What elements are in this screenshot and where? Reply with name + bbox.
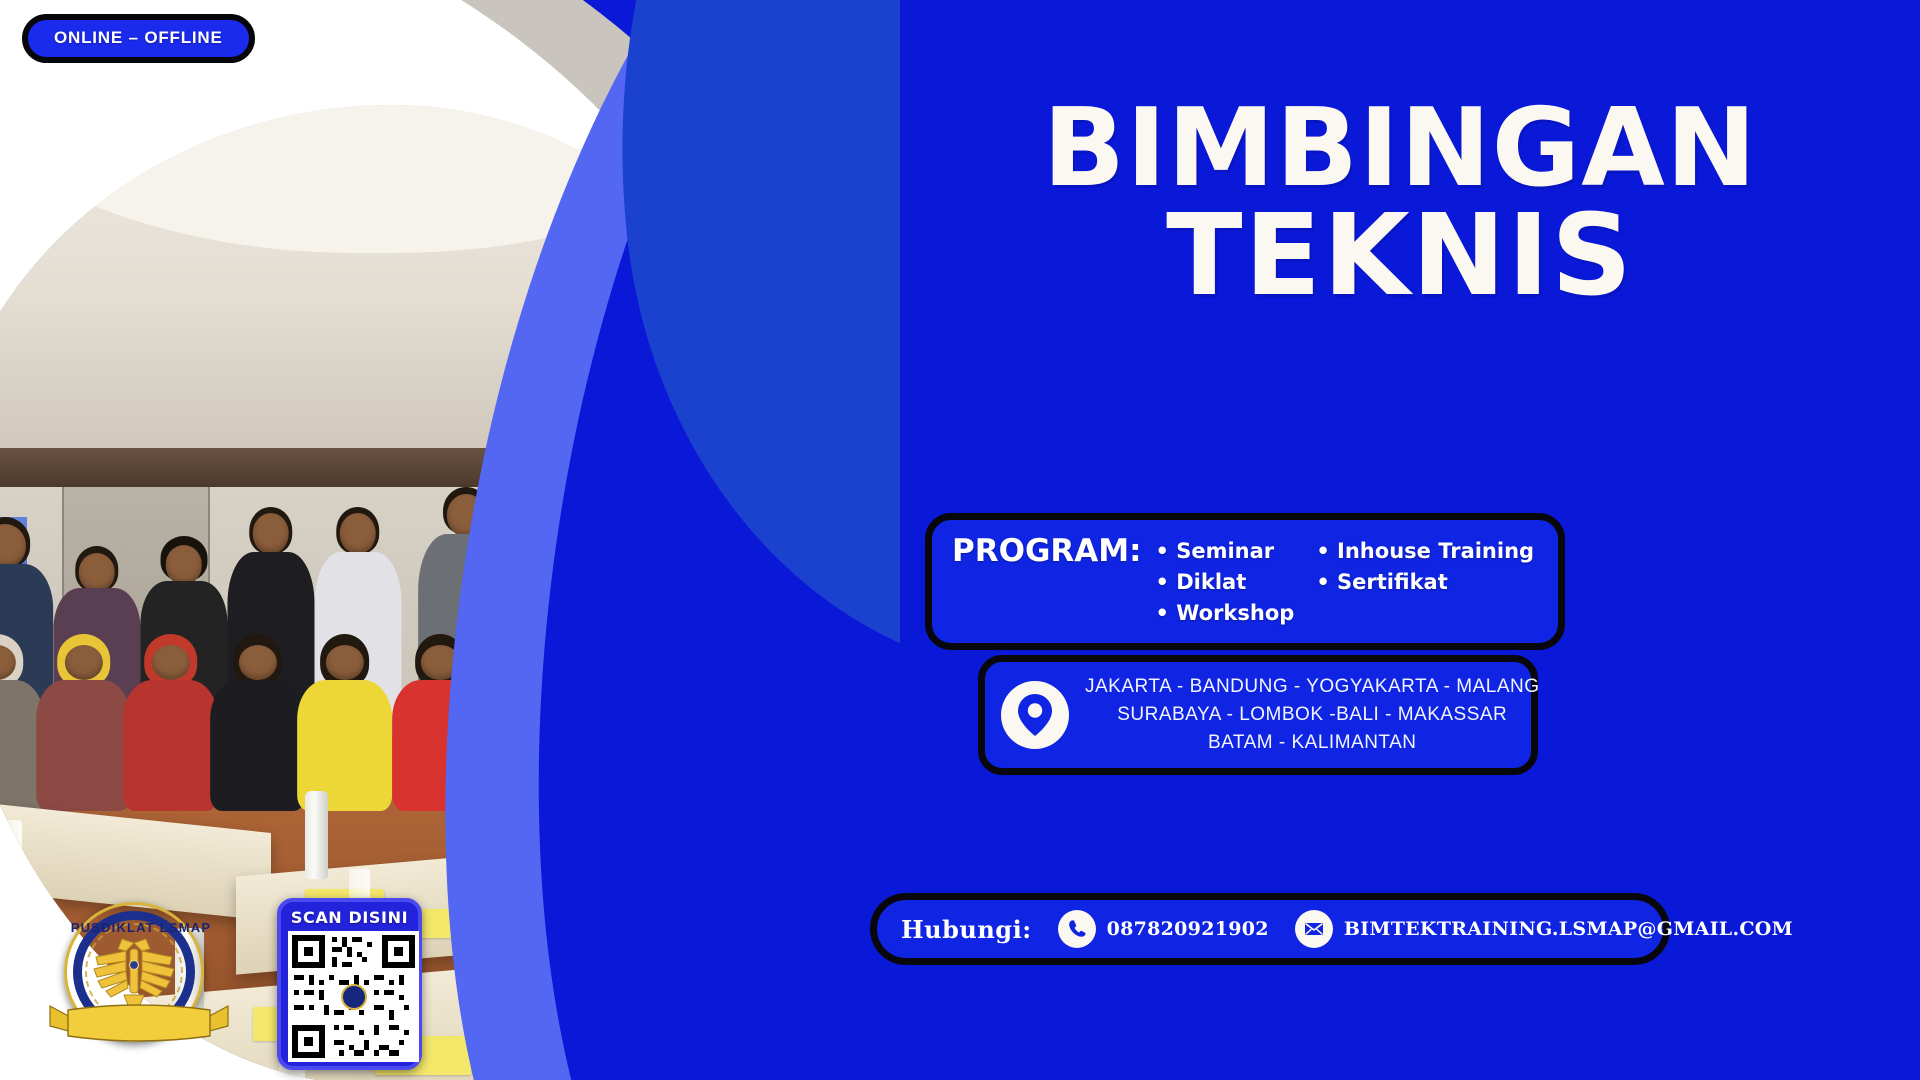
contact-bar: Hubungi: 087820921902 BIMTEKT <box>870 893 1670 965</box>
program-box: PROGRAM: Seminar Diklat Workshop Inhouse… <box>925 513 1565 650</box>
qr-scan-panel[interactable]: SCAN DISINI <box>277 898 422 1070</box>
logo-ribbon <box>46 996 232 1052</box>
location-line: BATAM - KALIMANTAN <box>1085 729 1540 757</box>
location-box: JAKARTA - BANDUNG - YOGYAKARTA - MALANG … <box>978 655 1538 775</box>
poster-canvas: ONLINE – OFFLINE <box>0 0 1920 1080</box>
contact-label: Hubungi: <box>901 915 1032 944</box>
person-seated <box>210 634 306 810</box>
logo-ribbon-text: PUSDIKLAT LSMAP <box>48 920 234 935</box>
logo-pusdiklat-lsmap: PUSDIKLAT LSMAP <box>48 900 228 1070</box>
program-label: PROGRAM: <box>952 532 1142 568</box>
right-content-panel: BIMBINGAN TEKNIS PROGRAM: Seminar Diklat… <box>900 0 1920 1080</box>
qr-code-image[interactable] <box>288 931 419 1062</box>
person-seated <box>123 634 219 810</box>
title-line-2: TEKNIS <box>900 202 1900 312</box>
qr-title: SCAN DISINI <box>288 908 411 927</box>
map-pin-icon <box>1001 681 1069 749</box>
location-lines: JAKARTA - BANDUNG - YOGYAKARTA - MALANG … <box>1085 673 1540 757</box>
program-columns: Seminar Diklat Workshop Inhouse Training… <box>1156 532 1535 629</box>
contact-email[interactable]: BIMTEKTRAINING.LSMAP@GMAIL.COM <box>1295 910 1793 948</box>
program-column-right: Inhouse Training Sertifikat <box>1316 536 1534 629</box>
program-item: Diklat <box>1156 567 1295 598</box>
page-title: BIMBINGAN TEKNIS <box>900 96 1900 312</box>
location-line: SURABAYA - LOMBOK -BALI - MAKASSAR <box>1085 701 1540 729</box>
phone-icon <box>1058 910 1096 948</box>
program-item: Inhouse Training <box>1316 536 1534 567</box>
program-item: Sertifikat <box>1316 567 1534 598</box>
program-column-left: Seminar Diklat Workshop <box>1156 536 1295 629</box>
photo-bottle <box>305 791 328 879</box>
email-address: BIMTEKTRAINING.LSMAP@GMAIL.COM <box>1344 918 1793 940</box>
status-badge-online-offline[interactable]: ONLINE – OFFLINE <box>22 14 255 63</box>
title-line-1: BIMBINGAN <box>900 96 1900 202</box>
contact-phone[interactable]: 087820921902 <box>1058 910 1269 948</box>
program-item: Seminar <box>1156 536 1295 567</box>
envelope-icon <box>1295 910 1333 948</box>
phone-number: 087820921902 <box>1107 918 1269 940</box>
person-seated <box>36 634 132 810</box>
photo-glass <box>1 820 22 869</box>
program-item: Workshop <box>1156 598 1295 629</box>
location-line: JAKARTA - BANDUNG - YOGYAKARTA - MALANG <box>1085 673 1540 701</box>
person-seated <box>297 634 393 810</box>
qr-center-logo <box>341 984 367 1010</box>
